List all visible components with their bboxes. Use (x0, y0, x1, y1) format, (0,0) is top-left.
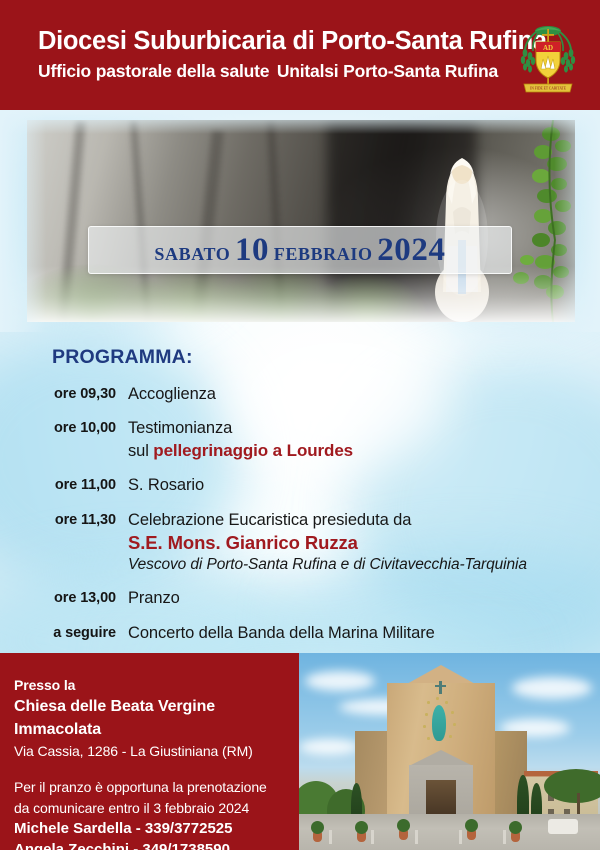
venue-name: Chiesa delle Beata Vergine Immacolata (14, 695, 299, 741)
programme-row-description: Pranzo (128, 588, 180, 609)
header-text-block: Diocesi Suburbicaria di Porto-Santa Rufi… (38, 28, 498, 82)
madonna-statue-icon (432, 705, 446, 741)
programme-line-prefix: sul (128, 442, 153, 460)
church-cross-icon (439, 681, 442, 694)
programme-list: ore 09,30Accoglienzaore 10,00Testimonian… (0, 384, 600, 657)
programme-row-line: Celebrazione Eucaristica presieduta da (128, 510, 527, 531)
church-portal-peak (409, 750, 473, 766)
programme-row-time: ore 13,00 (0, 588, 116, 606)
programme-row: ore 13,00Pranzo (0, 588, 600, 609)
svg-text:IN FIDE ET CARITATE: IN FIDE ET CARITATE (530, 87, 567, 91)
programme-row-description: Testimonianzasul pellegrinaggio a Lourde… (128, 418, 353, 462)
venue-address: Via Cassia, 1286 - La Giustiniana (RM) (14, 741, 299, 761)
programme-row: ore 09,30Accoglienza (0, 384, 600, 405)
lourdes-grotto-photo (27, 120, 575, 322)
programme-row-description: Concerto della Banda della Marina Milita… (128, 623, 435, 644)
programme-row-description: Celebrazione Eucaristica presieduta daS.… (128, 510, 527, 576)
contact-1: Michele Sardella - 339/3772525 (14, 818, 299, 839)
header-subtitle-left: Ufficio pastorale della salute (38, 61, 269, 82)
diocese-title: Diocesi Suburbicaria di Porto-Santa Rufi… (38, 28, 498, 55)
date-month: febbraio (274, 239, 373, 266)
header-subtitle-row: Ufficio pastorale della salute Unitalsi … (38, 61, 498, 82)
programme-row: a seguireConcerto della Banda della Mari… (0, 623, 600, 644)
programme-row-time: ore 09,30 (0, 384, 116, 402)
coat-of-arms-icon: AD IN FIDE ET CARITATE (512, 20, 584, 98)
programme-row-line: Accoglienza (128, 384, 216, 405)
hero-section (0, 110, 600, 332)
programme-row-time: a seguire (0, 623, 116, 641)
programme-heading: PROGRAMMA: (52, 346, 193, 369)
programme-line-emphasis: pellegrinaggio a Lourdes (153, 441, 353, 460)
church-facade-photo (299, 653, 600, 850)
programme-row: ore 11,30Celebrazione Eucaristica presie… (0, 510, 600, 576)
poster-root: Diocesi Suburbicaria di Porto-Santa Rufi… (0, 0, 600, 850)
programme-row-time: ore 10,00 (0, 418, 116, 436)
event-date-text: sabato 10 febbraio 2024 (154, 232, 445, 269)
programme-row-line: Testimonianza (128, 418, 353, 439)
date-prefix: sabato (154, 239, 230, 266)
hero-fade-left (0, 110, 46, 332)
date-year: 2024 (377, 232, 445, 268)
programme-row-line: Pranzo (128, 588, 180, 609)
footer-spacer (14, 761, 299, 777)
programme-row: ore 10,00Testimonianzasul pellegrinaggio… (0, 418, 600, 462)
programme-row: ore 11,00S. Rosario (0, 475, 600, 496)
programme-row-description: Accoglienza (128, 384, 216, 405)
contact-2: Angela Zecchini - 349/1738590 (14, 839, 299, 850)
programme-row-line: S. Rosario (128, 475, 204, 496)
svg-text:AD: AD (543, 44, 553, 52)
date-day: 10 (235, 232, 269, 268)
venue-prefix: Presso la (14, 675, 299, 695)
programme-row-line: sul pellegrinaggio a Lourdes (128, 440, 353, 462)
venue-info-block: Presso la Chiesa delle Beata Vergine Imm… (14, 675, 299, 850)
booking-line-1: Per il pranzo è opportuna la prenotazion… (14, 777, 299, 797)
hero-fade-top (0, 110, 600, 134)
footer-section: Presso la Chiesa delle Beata Vergine Imm… (0, 653, 600, 850)
programme-row-line: Vescovo di Porto-Santa Rufina e di Civit… (128, 555, 527, 575)
header-banner: Diocesi Suburbicaria di Porto-Santa Rufi… (0, 0, 600, 110)
programme-row-line: S.E. Mons. Gianrico Ruzza (128, 531, 527, 555)
programme-row-line: Concerto della Banda della Marina Milita… (128, 623, 435, 644)
booking-line-2: da comunicare entro il 3 febbraio 2024 (14, 798, 299, 818)
header-subtitle-right: Unitalsi Porto-Santa Rufina (277, 61, 498, 82)
grotto-mist (27, 266, 575, 322)
header-subtitle-spacer (269, 61, 277, 82)
programme-row-description: S. Rosario (128, 475, 204, 496)
programme-row-time: ore 11,00 (0, 475, 116, 493)
hero-fade-right (554, 110, 600, 332)
event-date-box: sabato 10 febbraio 2024 (88, 226, 512, 274)
programme-row-time: ore 11,30 (0, 510, 116, 528)
parked-van (548, 819, 578, 834)
